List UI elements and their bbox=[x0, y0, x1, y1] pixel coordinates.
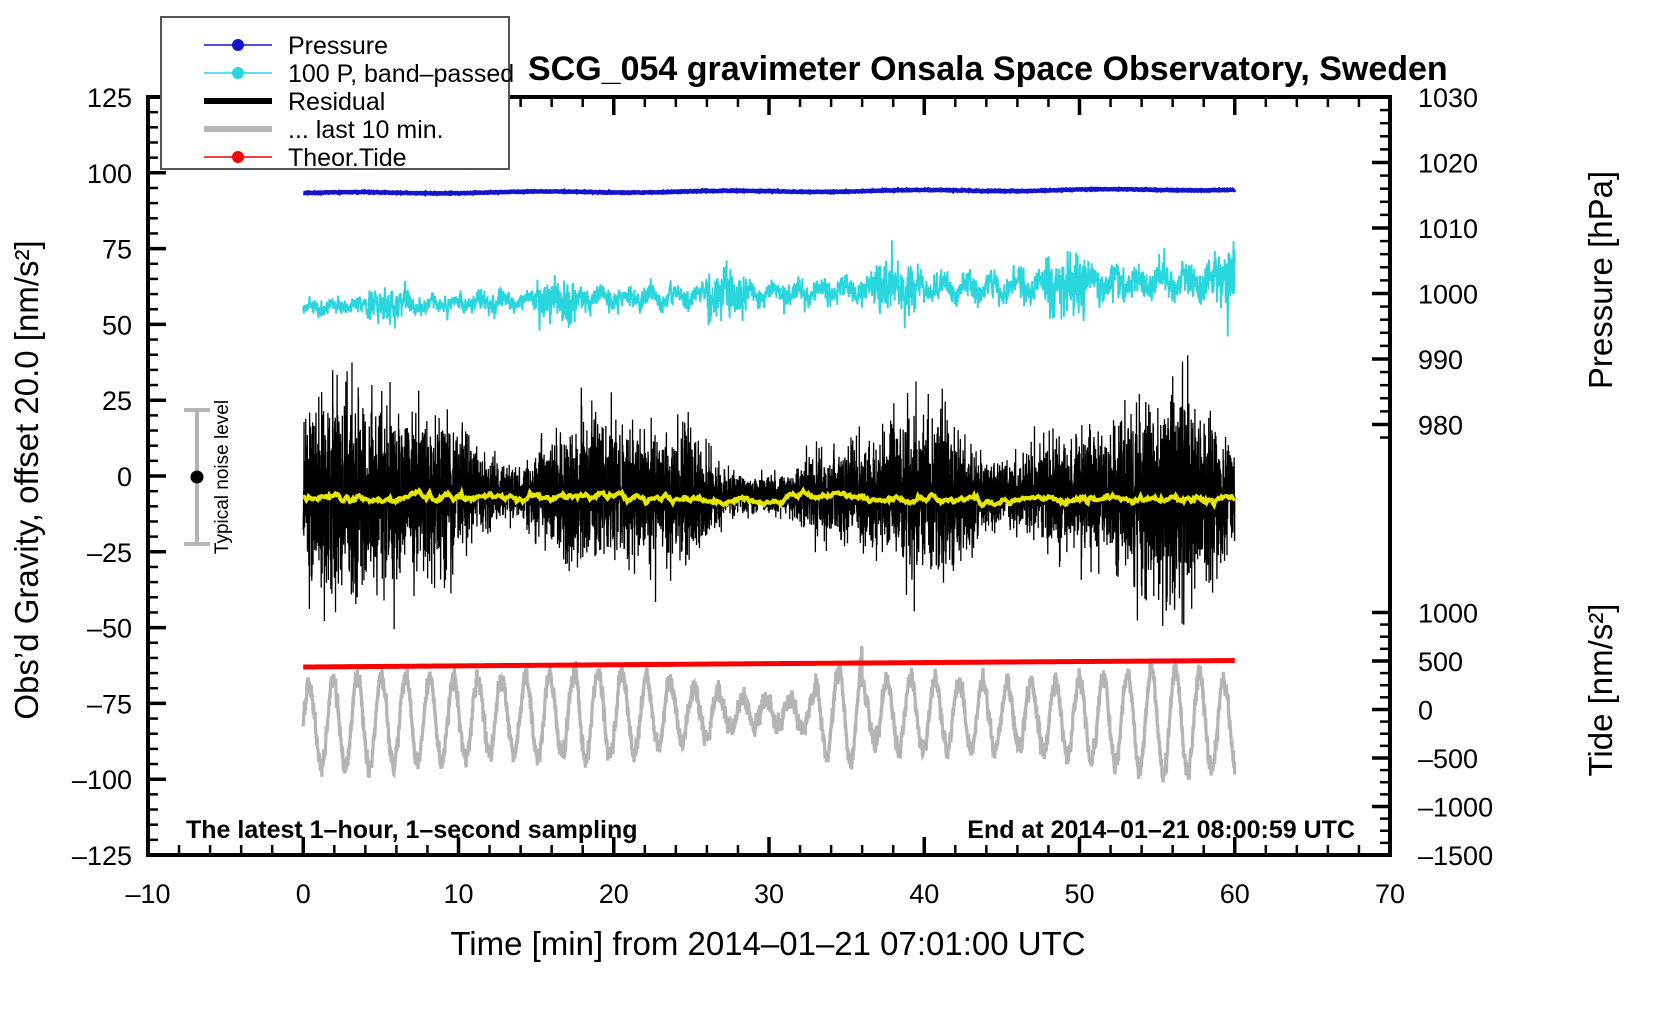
x-tick-label: –10 bbox=[125, 879, 170, 909]
x-tick-label: 70 bbox=[1375, 879, 1405, 909]
x-tick-label: 30 bbox=[754, 879, 784, 909]
tide-tick-label: 0 bbox=[1418, 695, 1433, 725]
legend-marker-dot bbox=[232, 39, 244, 51]
y-tick-label: 75 bbox=[102, 235, 132, 265]
legend-marker-dot bbox=[232, 151, 244, 163]
end-time-note: End at 2014–01–21 08:00:59 UTC bbox=[967, 816, 1355, 844]
y-tick-label: 25 bbox=[102, 386, 132, 416]
legend-label: Residual bbox=[288, 88, 385, 116]
y-axis-tide-title: Tide [nm/s²] bbox=[1582, 604, 1619, 777]
sampling-note: The latest 1–hour, 1–second sampling bbox=[186, 816, 638, 844]
legend-label: Pressure bbox=[288, 32, 388, 60]
x-tick-label: 20 bbox=[599, 879, 629, 909]
pressure-tick-label: 1030 bbox=[1418, 83, 1478, 113]
y-axis-pressure-title: Pressure [hPa] bbox=[1582, 171, 1619, 389]
y-tick-label: 0 bbox=[117, 462, 132, 492]
x-tick-label: 0 bbox=[296, 879, 311, 909]
pressure-tick-label: 1000 bbox=[1418, 279, 1478, 309]
legend-label: Theor.Tide bbox=[288, 144, 407, 172]
x-tick-label: 60 bbox=[1220, 879, 1250, 909]
x-tick-label: 50 bbox=[1064, 879, 1094, 909]
legend-marker-dot bbox=[232, 67, 244, 79]
pressure-tick-label: 980 bbox=[1418, 410, 1463, 440]
tide-tick-label: –500 bbox=[1418, 744, 1478, 774]
y-tick-label: –125 bbox=[72, 841, 132, 871]
chart-page: SCG_054 gravimeter Onsala Space Observat… bbox=[0, 0, 1660, 1020]
legend-label: 100 P, band–passed bbox=[288, 60, 514, 88]
page-title: SCG_054 gravimeter Onsala Space Observat… bbox=[528, 50, 1448, 88]
tide-tick-label: –1000 bbox=[1418, 792, 1493, 822]
x-tick-label: 10 bbox=[443, 879, 473, 909]
tide-tick-label: 500 bbox=[1418, 647, 1463, 677]
y-tick-label: –75 bbox=[87, 689, 132, 719]
y-tick-label: 50 bbox=[102, 310, 132, 340]
y-tick-label: –25 bbox=[87, 538, 132, 568]
x-axis-title: Time [min] from 2014–01–21 07:01:00 UTC bbox=[450, 925, 1085, 962]
y-axis-left-title: Obs’d Gravity, offset 20.0 [nm/s²] bbox=[8, 240, 45, 719]
pressure-tick-label: 1020 bbox=[1418, 148, 1478, 178]
y-tick-label: –100 bbox=[72, 765, 132, 795]
tide-tick-label: 1000 bbox=[1418, 598, 1478, 628]
tide-tick-label: –1500 bbox=[1418, 841, 1493, 871]
y-tick-label: 125 bbox=[87, 83, 132, 113]
y-tick-label: 100 bbox=[87, 159, 132, 189]
pressure-tick-label: 1010 bbox=[1418, 214, 1478, 244]
x-tick-label: 40 bbox=[909, 879, 939, 909]
y-tick-label: –50 bbox=[87, 614, 132, 644]
legend-label: ... last 10 min. bbox=[288, 116, 444, 144]
typical-noise-level-label: Typical noise level bbox=[212, 400, 233, 554]
legend[interactable]: Pressure100 P, band–passedResidual... la… bbox=[161, 17, 514, 172]
pressure-tick-label: 990 bbox=[1418, 345, 1463, 375]
